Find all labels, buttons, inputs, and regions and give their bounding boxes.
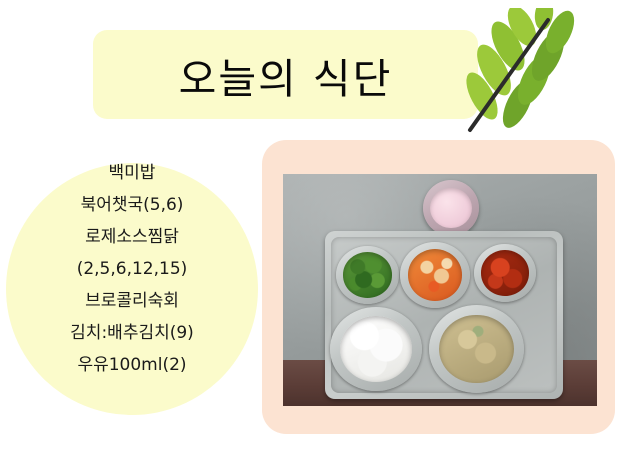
menu-item: (2,5,6,12,15) (77, 254, 188, 284)
milk-liquid (430, 188, 471, 228)
soup-bowl (429, 305, 524, 393)
page-title: 오늘의 식단 (93, 30, 478, 119)
rice-bowl (330, 307, 422, 391)
rice-food (340, 316, 412, 382)
soup-food (439, 315, 513, 384)
kimchi-bowl (474, 244, 536, 302)
rose-sauce-chicken-food (408, 249, 463, 300)
strawberry-milk-cup (423, 180, 479, 236)
menu-item: 우유100ml(2) (77, 350, 186, 380)
lunch-tray-photo (283, 174, 597, 406)
kimchi-food (481, 250, 529, 295)
leaf-branch-icon (452, 8, 592, 136)
menu-item: 북어챗국(5,6) (81, 190, 184, 220)
menu-list: 백미밥 북어챗국(5,6) 로제소스찜닭 (2,5,6,12,15) 브로콜리숙… (6, 158, 258, 380)
broccoli-food (343, 252, 392, 297)
broccoli-bowl (336, 246, 399, 304)
menu-item: 백미밥 (109, 158, 156, 188)
menu-slide: 오늘의 식단 백미밥 북어챗국(5,6) (0, 0, 633, 450)
menu-item: 로제소스찜닭 (85, 222, 179, 252)
menu-item: 브로콜리숙회 (85, 286, 179, 316)
menu-item: 김치:배추김치(9) (70, 318, 194, 348)
rose-sauce-chicken-bowl (400, 242, 470, 308)
